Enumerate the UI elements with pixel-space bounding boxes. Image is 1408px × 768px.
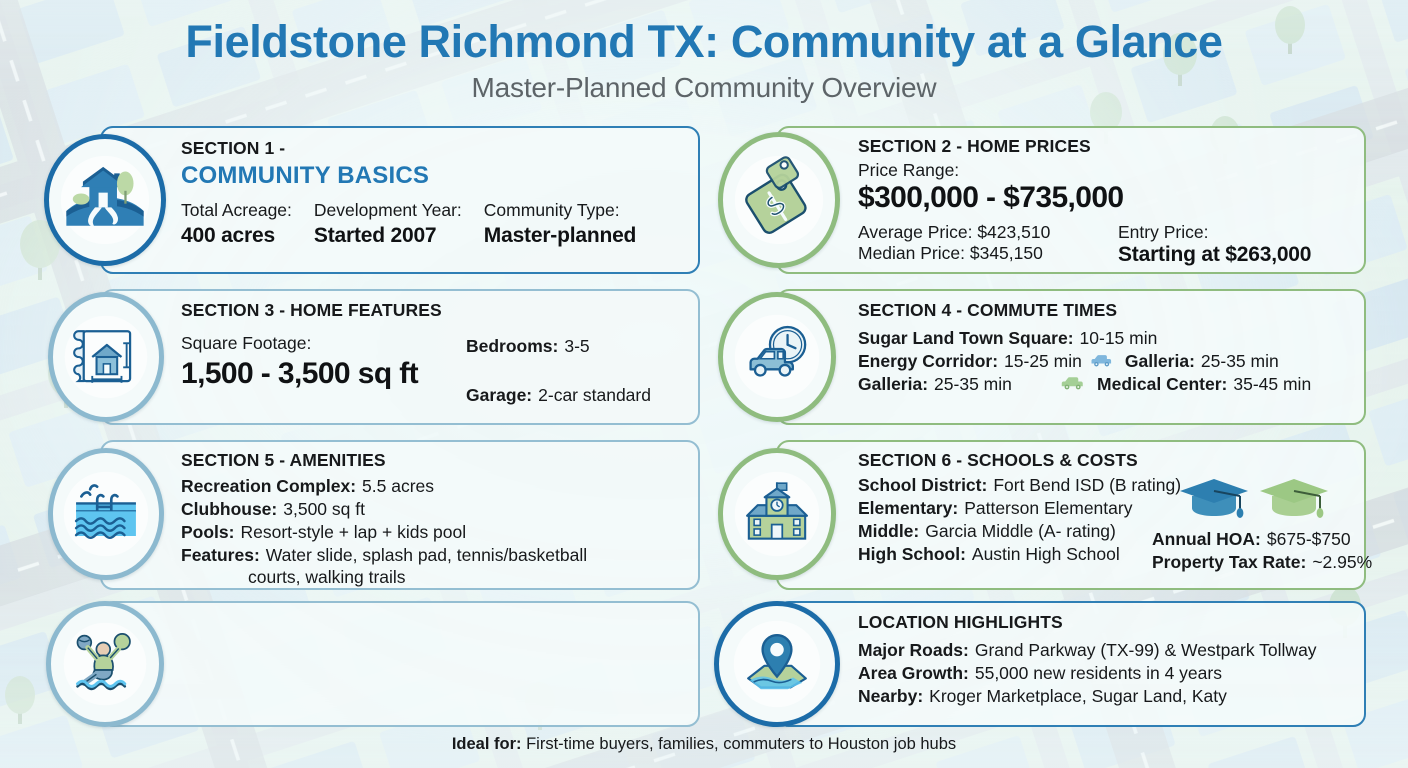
commute-value: 25-35 min [934, 373, 1052, 396]
section-6-heading: SECTION 6 - SCHOOLS & COSTS [858, 450, 1358, 471]
school-label: High School: [858, 543, 966, 566]
stat-development-year: Development Year: Started 2007 [314, 200, 462, 248]
stat-label: Community Type: [484, 200, 636, 221]
amenity-features-continued: courts, walking trails [248, 567, 691, 588]
entry-price-value: Starting at $263,000 [1118, 243, 1311, 267]
amenity-row-features: Features: Water slide, splash pad, tenni… [181, 544, 691, 567]
cost-row-tax: Property Tax Rate: ~2.95% [1152, 551, 1372, 574]
commute-value: 35-45 min [1233, 373, 1311, 396]
garage-value: 2-car standard [538, 384, 651, 407]
commute-label: Energy Corridor: [858, 350, 998, 373]
map-pin-icon [732, 619, 822, 709]
footer-value: First-time buyers, families, commuters t… [526, 735, 956, 753]
amenity-value: Resort-style + lap + kids pool [240, 521, 466, 544]
house-with-path-icon [59, 154, 151, 246]
school-value: Austin High School [972, 543, 1120, 566]
blueprint-house-icon [63, 314, 149, 400]
price-range-value: $300,000 - $735,000 [858, 182, 1358, 214]
square-footage-label: Square Footage: [181, 333, 466, 354]
school-value: Fort Bend ISD (B rating) [993, 474, 1181, 497]
amenity-label: Clubhouse: [181, 498, 277, 521]
badge-section-2 [718, 132, 840, 268]
amenity-value: Water slide, splash pad, tennis/basketba… [266, 544, 587, 567]
card-swimmer-empty[interactable] [100, 601, 700, 727]
footer-note: Ideal for: First-time buyers, families, … [0, 735, 1408, 754]
location-row-major-roads: Major Roads: Grand Parkway (TX-99) & Wes… [858, 639, 1358, 662]
commute-label: Sugar Land Town Square: [858, 327, 1074, 350]
amenity-value: 5.5 acres [362, 475, 434, 498]
body-location-highlights: LOCATION HIGHLIGHTS Major Roads: Grand P… [858, 612, 1358, 708]
blue-graduation-cap-icon [1178, 474, 1250, 522]
section-1-heading: SECTION 1 - [181, 138, 691, 159]
cost-label: Annual HOA: [1152, 528, 1261, 551]
commute-row-sugar-land: Sugar Land Town Square: 10-15 min [858, 327, 1358, 350]
cost-label: Property Tax Rate: [1152, 551, 1306, 574]
body-section-5: SECTION 5 - AMENITIES Recreation Complex… [181, 450, 691, 588]
blue-car-icon [1090, 352, 1114, 373]
amenity-row-pools: Pools: Resort-style + lap + kids pool [181, 521, 691, 544]
green-car-icon [1060, 375, 1086, 396]
commute-value: 25-35 min [1201, 350, 1279, 373]
stat-label: Development Year: [314, 200, 462, 221]
commute-label: Galleria: [1125, 350, 1195, 373]
location-highlights-heading: LOCATION HIGHLIGHTS [858, 612, 1358, 633]
body-section-3: SECTION 3 - HOME FEATURES Square Footage… [181, 300, 681, 407]
section-card-grid: SECTION 1 - COMMUNITY BASICS Total Acrea… [0, 122, 1408, 734]
location-value: 55,000 new residents in 4 years [975, 662, 1222, 685]
amenity-value: 3,500 sq ft [283, 498, 365, 521]
cost-row-hoa: Annual HOA: $675-$750 [1152, 528, 1372, 551]
infographic-page: Fieldstone Richmond TX: Community at a G… [0, 0, 1408, 768]
cost-value: $675-$750 [1267, 528, 1351, 551]
commute-value: 15-25 min [1004, 350, 1082, 373]
school-label: Middle: [858, 520, 919, 543]
school-label: Elementary: [858, 497, 958, 520]
location-label: Area Growth: [858, 662, 969, 685]
garage-row: Garage: 2-car standard [466, 384, 651, 407]
commute-label: Medical Center: [1097, 373, 1227, 396]
water-polo-swimmer-icon [62, 621, 148, 707]
badge-section-5 [48, 448, 164, 580]
section-1-heading-accent: COMMUNITY BASICS [181, 163, 691, 189]
section-2-heading: SECTION 2 - HOME PRICES [858, 136, 1358, 157]
school-building-icon [733, 470, 821, 558]
entry-price-label: Entry Price: [1118, 222, 1311, 243]
location-label: Nearby: [858, 685, 923, 708]
amenity-row-recreation: Recreation Complex: 5.5 acres [181, 475, 691, 498]
cost-block: Annual HOA: $675-$750 Property Tax Rate:… [1152, 528, 1372, 574]
school-value: Garcia Middle (A- rating) [925, 520, 1116, 543]
section-3-heading: SECTION 3 - HOME FEATURES [181, 300, 681, 321]
section-4-heading: SECTION 4 - COMMUTE TIMES [858, 300, 1358, 321]
footer-label: Ideal for: [452, 735, 522, 753]
page-header: Fieldstone Richmond TX: Community at a G… [0, 0, 1408, 104]
green-graduation-cap-icon [1258, 474, 1330, 522]
stat-value: Master-planned [484, 224, 636, 248]
stat-total-acreage: Total Acreage: 400 acres [181, 200, 292, 248]
amenity-label: Features: [181, 544, 260, 567]
stat-value: 400 acres [181, 224, 292, 248]
badge-section-6 [718, 448, 836, 580]
badge-location-highlights [714, 601, 840, 727]
body-section-4: SECTION 4 - COMMUTE TIMES Sugar Land Tow… [858, 300, 1358, 396]
location-value: Kroger Marketplace, Sugar Land, Katy [929, 685, 1227, 708]
bedrooms-row: Bedrooms: 3-5 [466, 335, 651, 358]
badge-section-4 [718, 292, 836, 422]
stat-community-type: Community Type: Master-planned [484, 200, 636, 248]
location-value: Grand Parkway (TX-99) & Westpark Tollway [975, 639, 1317, 662]
page-title: Fieldstone Richmond TX: Community at a G… [0, 18, 1408, 65]
garage-label: Garage: [466, 384, 532, 407]
school-label: School District: [858, 474, 987, 497]
amenity-label: Recreation Complex: [181, 475, 356, 498]
school-value: Patterson Elementary [964, 497, 1132, 520]
badge-section-3 [48, 292, 164, 422]
amenity-row-clubhouse: Clubhouse: 3,500 sq ft [181, 498, 691, 521]
commute-value: 10-15 min [1080, 327, 1158, 350]
badge-section-1 [44, 134, 166, 266]
bedrooms-label: Bedrooms: [466, 335, 558, 358]
location-row-area-growth: Area Growth: 55,000 new residents in 4 y… [858, 662, 1358, 685]
cost-value: ~2.95% [1312, 551, 1372, 574]
location-row-nearby: Nearby: Kroger Marketplace, Sugar Land, … [858, 685, 1358, 708]
commute-row-galleria: Galleria: 25-35 min Medical Center: 35-4… [858, 373, 1358, 396]
stat-value: Started 2007 [314, 224, 462, 248]
median-price: Median Price: $345,150 [858, 243, 1118, 264]
commute-label: Galleria: [858, 373, 928, 396]
body-section-2: SECTION 2 - HOME PRICES Price Range: $30… [858, 136, 1358, 267]
price-tag-icon [733, 154, 825, 246]
car-clock-icon [733, 313, 821, 401]
page-subtitle: Master-Planned Community Overview [0, 72, 1408, 104]
section-5-heading: SECTION 5 - AMENITIES [181, 450, 691, 471]
badge-swimmer [46, 601, 164, 727]
bedrooms-value: 3-5 [564, 335, 589, 358]
commute-row-energy-corridor: Energy Corridor: 15-25 min Galleria: 25-… [858, 350, 1358, 373]
average-price: Average Price: $423,510 [858, 222, 1118, 243]
stat-label: Total Acreage: [181, 200, 292, 221]
price-range-label: Price Range: [858, 160, 1358, 181]
amenity-label: Pools: [181, 521, 234, 544]
pool-icon [62, 470, 150, 558]
graduation-caps-group [1178, 474, 1330, 522]
square-footage-value: 1,500 - 3,500 sq ft [181, 358, 466, 390]
body-section-1: SECTION 1 - COMMUNITY BASICS Total Acrea… [181, 138, 691, 248]
location-label: Major Roads: [858, 639, 969, 662]
